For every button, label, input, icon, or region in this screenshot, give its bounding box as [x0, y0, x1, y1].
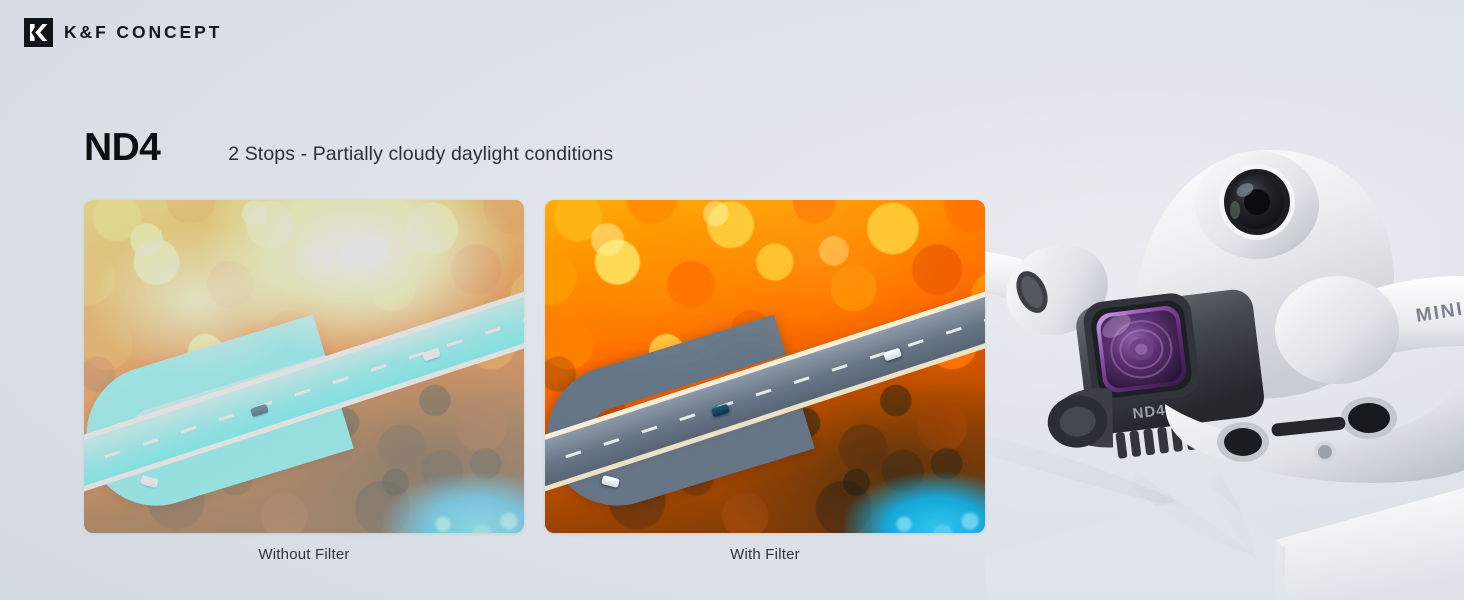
aerial-road-photo-filtered [545, 200, 985, 533]
sun-glare-overexposure [84, 200, 524, 533]
comparison-panel-without-filter [84, 200, 524, 533]
headline-description: 2 Stops - Partially cloudy daylight cond… [228, 145, 613, 165]
caption-without-filter: Without Filter [84, 546, 524, 563]
brand-logo: K&F CONCEPT [24, 18, 222, 47]
kf-chevron-logo-icon [24, 18, 53, 47]
caption-with-filter: With Filter [545, 546, 985, 563]
headline: ND4 2 Stops - Partially cloudy daylight … [84, 128, 613, 167]
sun-glare-overexposure [545, 200, 985, 533]
aerial-road-photo-unfiltered [84, 200, 524, 533]
brand-name: K&F CONCEPT [64, 22, 222, 43]
comparison-panel-with-filter [545, 200, 985, 533]
drone-product-image: MINI ND4 [985, 0, 1464, 600]
product-feature-banner: K&F CONCEPT ND4 2 Stops - Partially clou… [0, 0, 1464, 600]
page-title: ND4 [84, 128, 160, 167]
